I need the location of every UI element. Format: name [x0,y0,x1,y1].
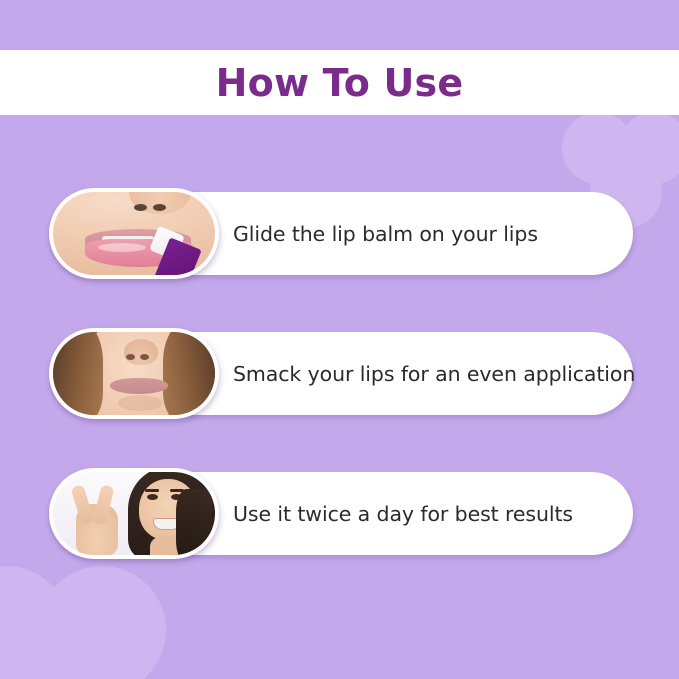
header-band: How To Use [0,50,679,115]
list-item: Smack your lips for an even application [0,332,679,415]
steps-list: Glide the lip balm on your lips Smack yo [0,192,679,612]
step-thumbnail-1 [49,188,219,279]
list-item: Glide the lip balm on your lips [0,192,679,275]
step-text-3: Use it twice a day for best results [233,472,591,555]
how-to-use-poster: How To Use Glide the lip [0,0,679,679]
list-item: Use it twice a day for best results [0,472,679,555]
woman-smacking-lips-image [53,332,215,415]
step-text-1: Glide the lip balm on your lips [233,192,556,275]
step-thumbnail-3 [49,468,219,559]
step-thumbnail-2 [49,328,219,419]
step-text-2: Smack your lips for an even application [233,332,653,415]
woman-peace-sign-image [53,472,215,555]
page-title: How To Use [216,64,464,102]
lips-applying-balm-image [53,192,215,275]
